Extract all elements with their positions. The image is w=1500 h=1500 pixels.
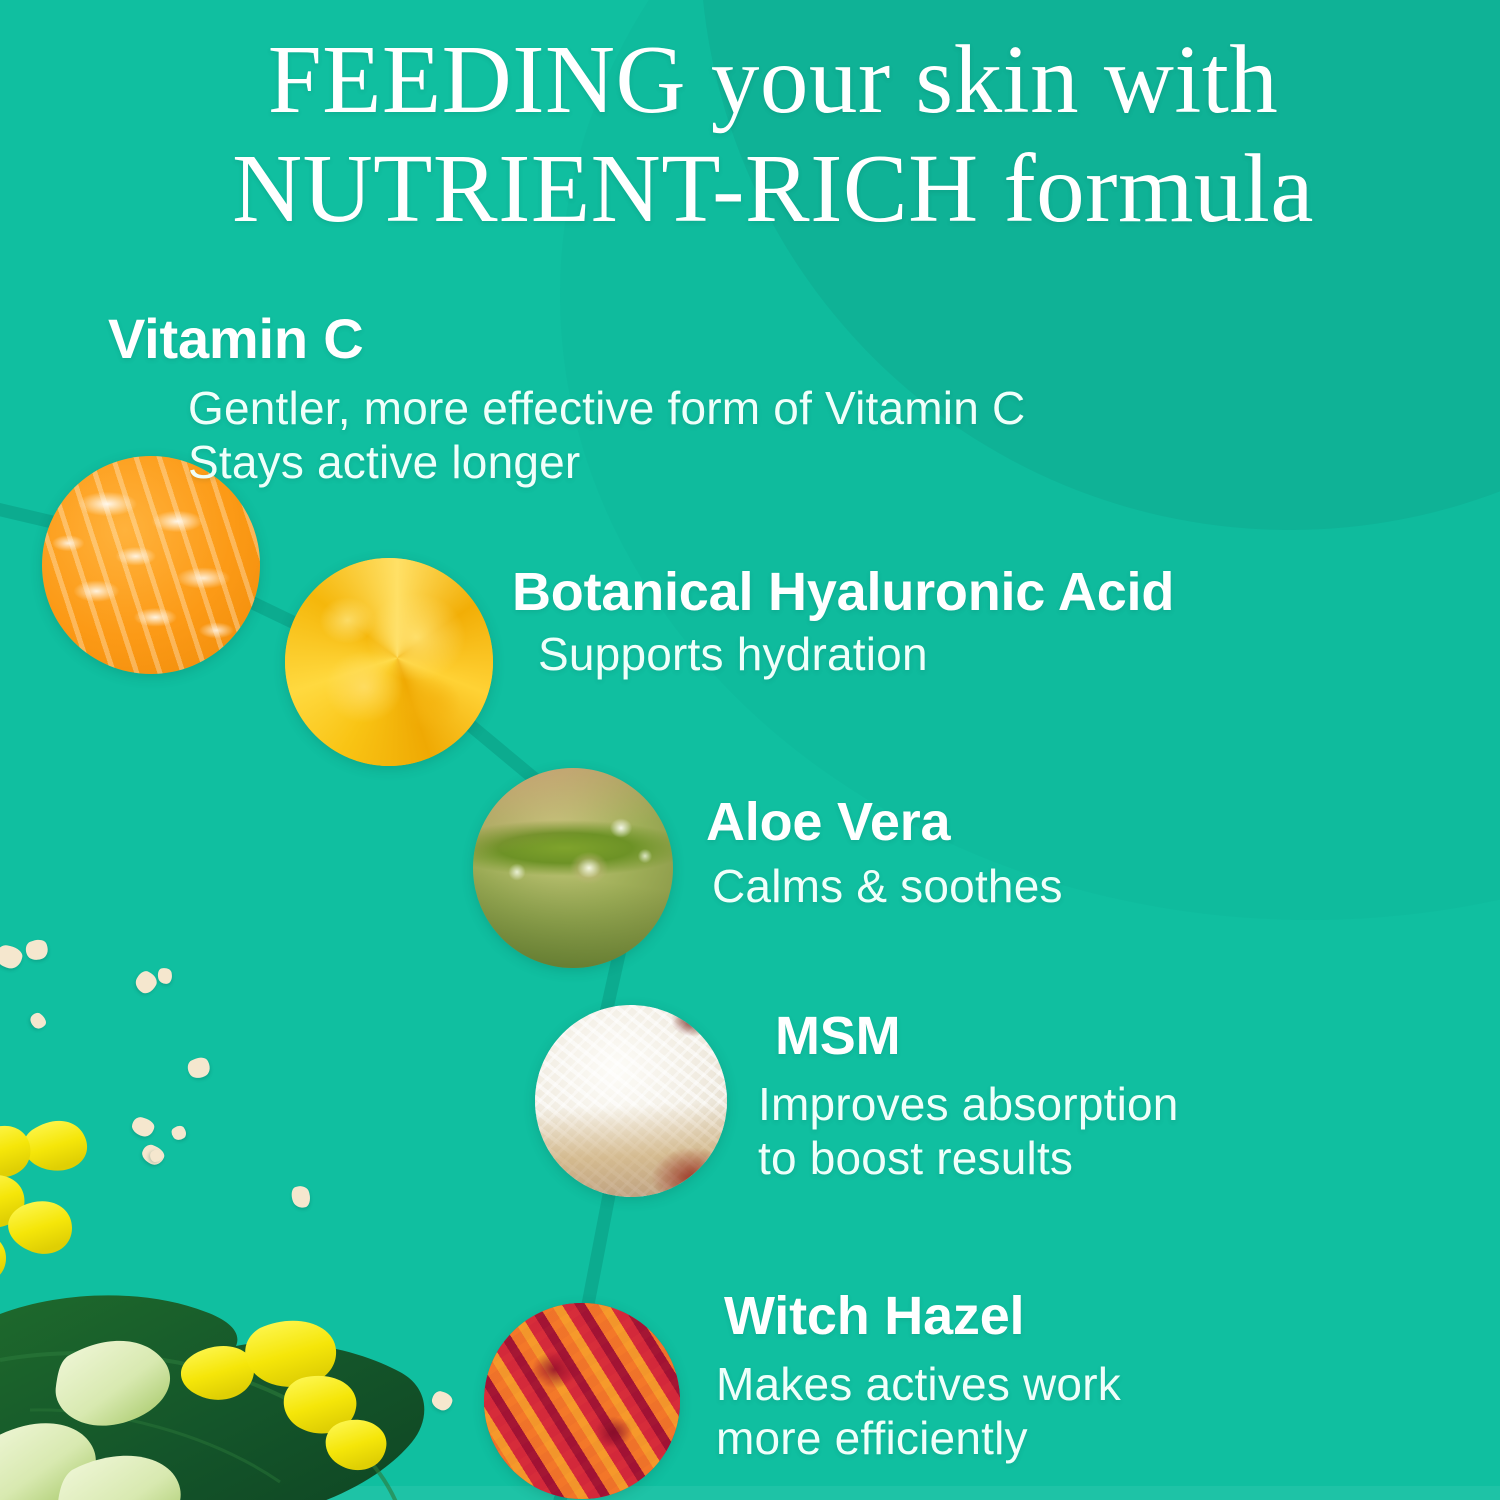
- headline-line-2-rest: formula: [979, 135, 1314, 242]
- ingredient-title-witch-hazel: Witch Hazel: [724, 1288, 1024, 1344]
- ingredient-image-aloe: [473, 768, 673, 968]
- granule: [185, 1054, 214, 1082]
- ingredient-title-hyaluronic: Botanical Hyaluronic Acid: [512, 564, 1174, 620]
- ingredient-title-vitamin-c: Vitamin C: [108, 310, 363, 368]
- granule: [23, 937, 51, 963]
- ingredient-description-line: to boost results: [758, 1132, 1179, 1186]
- ingredient-description-line: Supports hydration: [538, 628, 928, 682]
- granule: [27, 1010, 48, 1031]
- granule: [157, 967, 173, 985]
- ingredient-description-line: Improves absorption: [758, 1078, 1179, 1132]
- headline-line-2: NUTRIENT-RICH formula: [108, 135, 1438, 244]
- ingredient-description-aloe: Calms & soothes: [712, 860, 1063, 914]
- headline-line-1-rest: your skin with: [686, 26, 1278, 133]
- red-orange-petals-photo: [484, 1303, 680, 1499]
- infographic-canvas: FEEDING your skin with NUTRIENT-RICH for…: [0, 0, 1500, 1500]
- ingredient-image-witch-hazel: [484, 1303, 680, 1499]
- ingredient-image-hyaluronic: [285, 558, 493, 766]
- ingredient-title-aloe: Aloe Vera: [706, 794, 950, 850]
- ingredient-description-line: Calms & soothes: [712, 860, 1063, 914]
- ingredient-description-msm: Improves absorption to boost results: [758, 1078, 1179, 1186]
- ingredient-description-line: Makes actives work: [716, 1358, 1121, 1412]
- granule: [132, 968, 160, 996]
- ingredient-image-msm: [535, 1005, 727, 1197]
- dew-droplet-on-stem-photo: [473, 768, 673, 968]
- ingredient-description-witch-hazel: Makes actives work more efficiently: [716, 1358, 1121, 1466]
- ingredient-description-line: Gentler, more effective form of Vitamin …: [188, 382, 1025, 436]
- botanical-decoration: [0, 1110, 430, 1500]
- page-title: FEEDING your skin with NUTRIENT-RICH for…: [108, 26, 1438, 243]
- granule: [430, 1389, 455, 1412]
- ingredient-description-hyaluronic: Supports hydration: [538, 628, 928, 682]
- granule: [0, 944, 24, 971]
- ingredient-description-vitamin-c: Gentler, more effective form of Vitamin …: [188, 382, 1025, 490]
- ingredient-description-line: more efficiently: [716, 1412, 1121, 1466]
- headline-line-1: FEEDING your skin with: [108, 26, 1438, 135]
- ingredient-title-msm: MSM: [775, 1008, 900, 1064]
- yellow-flower-upper: [0, 1121, 87, 1284]
- white-crystals-photo: [535, 1005, 727, 1197]
- headline-line-2-caps: NUTRIENT-RICH: [232, 135, 979, 242]
- yellow-rose-petals-photo: [285, 558, 493, 766]
- ingredient-description-line: Stays active longer: [188, 436, 1025, 490]
- headline-line-1-caps: FEEDING: [268, 26, 686, 133]
